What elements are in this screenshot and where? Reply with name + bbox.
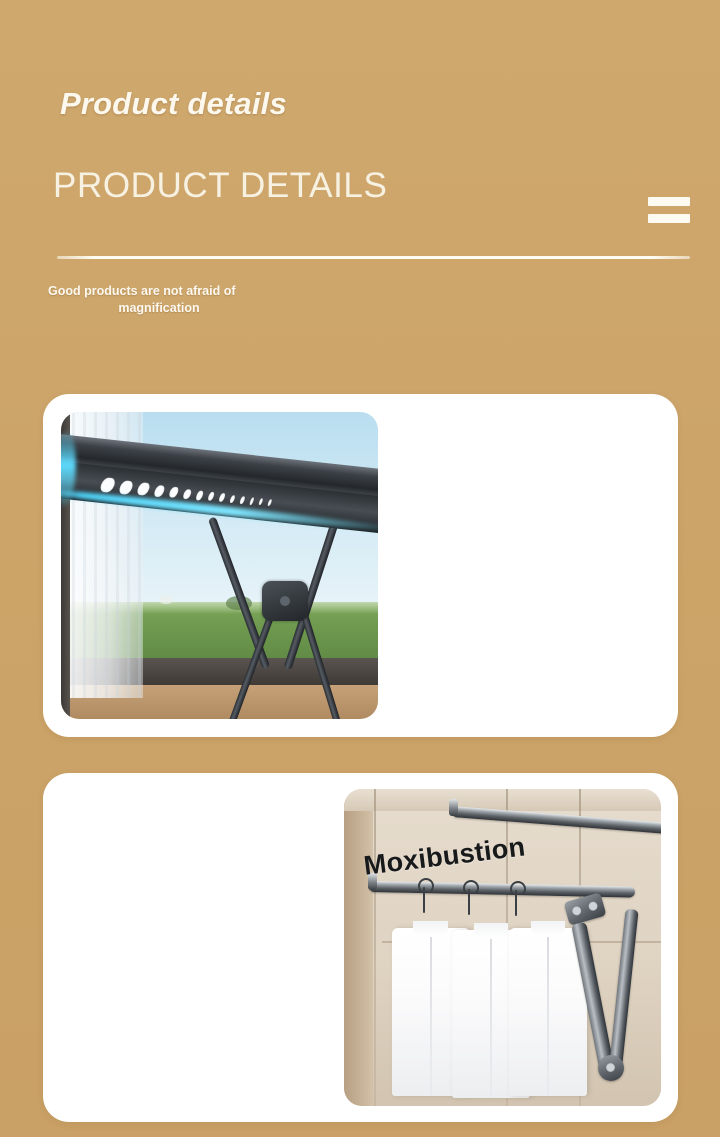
slope-hole (207, 492, 215, 501)
slope-hole (218, 494, 226, 503)
header-subtitle-line1: Good products are not afraid of (48, 283, 270, 300)
page-header: Product details PRODUCT DETAILS Good pro… (0, 0, 720, 270)
slope-hole (195, 491, 205, 501)
header-subtitle-line2: magnification (48, 300, 270, 317)
hamburger-bar-1 (648, 197, 690, 206)
scene-closet: Moxibustion (344, 789, 661, 1106)
slope-hole (168, 487, 180, 499)
slope-hole (99, 478, 117, 494)
rack-joint (598, 1055, 624, 1081)
header-subtitle: Good products are not afraid of magnific… (48, 283, 270, 317)
hamburger-menu-icon[interactable] (648, 197, 690, 223)
product-image-closet: Moxibustion (344, 789, 661, 1106)
bracket-bolt (571, 905, 582, 916)
slope-hole (118, 480, 135, 495)
scene-window-room (61, 412, 378, 719)
slope-hole (153, 485, 166, 498)
tree-icon (159, 595, 173, 604)
product-image-drying-rack (61, 412, 378, 719)
slope-hole (267, 500, 272, 507)
rack-pivot-hub (262, 581, 308, 621)
page-title: PRODUCT DETAILS (53, 166, 387, 206)
slope-hole (136, 483, 152, 497)
closet-top-panel (344, 789, 661, 811)
header-divider (57, 256, 690, 259)
slope-hole (182, 489, 193, 499)
rod-end-cap (449, 799, 458, 816)
feature-card[interactable]: Retractable extension rod Add a telescop… (43, 773, 678, 1122)
header-script-title: Product details (60, 86, 287, 122)
slope-hole (239, 496, 246, 504)
hanger-hook (468, 889, 470, 915)
slope-hole (259, 499, 264, 506)
hanger-hook (423, 887, 425, 913)
white-shirt (509, 928, 587, 1096)
hanger-hook (515, 890, 517, 916)
bracket-bolt (587, 900, 598, 911)
product-details-page: Product details PRODUCT DETAILS Good pro… (0, 0, 720, 1137)
slope-hole (249, 497, 255, 505)
feature-card[interactable]: External slope drying hole Easily hang c… (43, 394, 678, 737)
slope-hole (229, 495, 236, 503)
panel-seam (374, 789, 376, 1106)
hamburger-bar-2 (648, 214, 690, 223)
joint-bolt (606, 1063, 615, 1072)
